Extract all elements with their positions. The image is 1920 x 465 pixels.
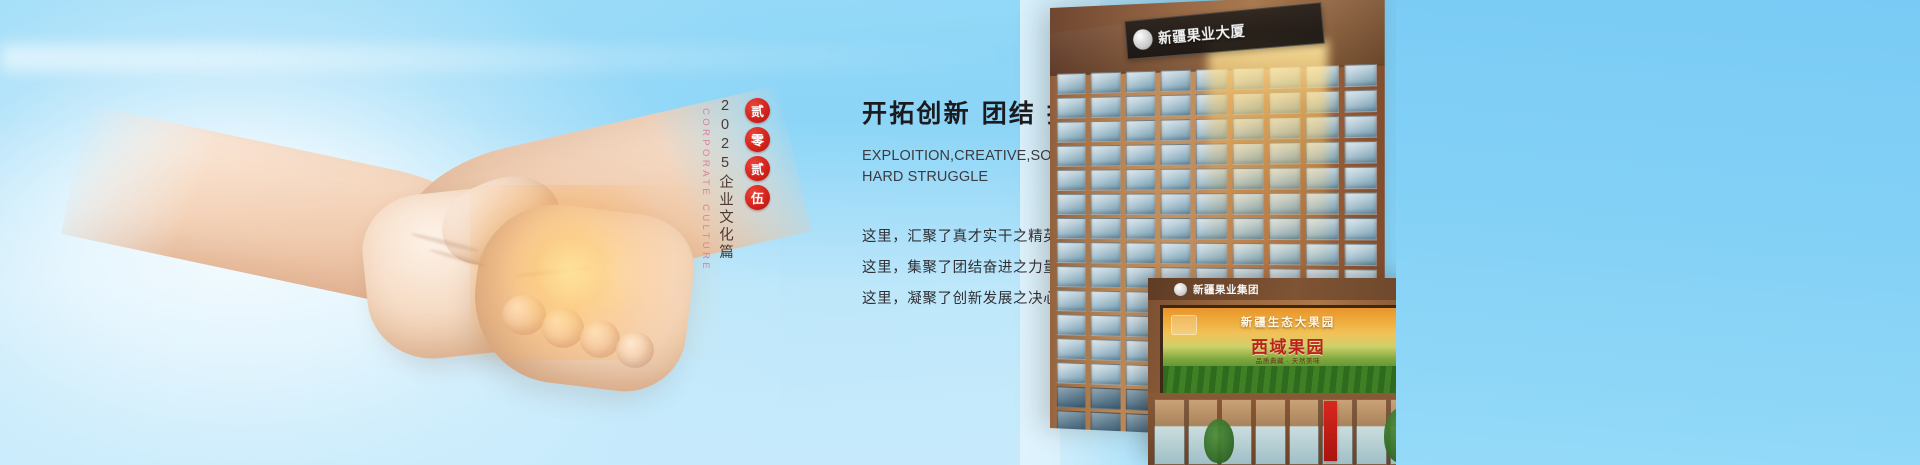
tower-window (1057, 145, 1086, 166)
tower-window (1091, 412, 1120, 435)
tower-window (1196, 143, 1227, 165)
tower-window (1057, 410, 1086, 432)
tower-window (1344, 115, 1377, 138)
tower-window (1344, 141, 1377, 164)
billboard-field-imagery (1163, 366, 1413, 396)
tower-window (1057, 97, 1086, 119)
tower-window-row (1050, 141, 1385, 165)
tower-window (1091, 266, 1120, 288)
tower-window (1306, 243, 1338, 265)
tower-window (1306, 91, 1338, 114)
tower-window (1306, 218, 1338, 240)
calligraphy-char-3: 合 (547, 129, 698, 287)
tower-window (1161, 94, 1191, 116)
tower-window (1232, 168, 1263, 190)
tower-window (1344, 64, 1377, 87)
tower-window (1125, 242, 1155, 264)
seal-icon: 贰 (745, 98, 770, 123)
tower-window (1091, 387, 1120, 409)
tower-window (1161, 144, 1191, 166)
tower-window (1057, 266, 1086, 287)
tower-window (1269, 66, 1301, 89)
tower-window (1344, 218, 1377, 240)
billboard: 新疆生态大果园 西域果园 品质典藏 · 天然美味 优质红枣系列产品 · 优质核桃… (1160, 305, 1416, 399)
company-logo-icon (1132, 28, 1153, 50)
tower-window (1057, 386, 1086, 408)
vertical-meta-column: CORPORATE CULTURE 2025企业文化篇 贰 零 贰 伍 (700, 96, 770, 286)
company-logo-icon (1174, 283, 1187, 296)
tower-window-row (1050, 167, 1385, 189)
office-building-photo: 新疆果业大厦 新疆果业集团 新疆生态大果园 西域果园 品质典藏 · 天然美味 优… (1020, 0, 1440, 465)
tower-window (1232, 118, 1263, 140)
tower-window (1161, 70, 1191, 92)
tower-window (1125, 71, 1155, 93)
tower-window (1091, 72, 1120, 94)
tower-window (1344, 90, 1377, 113)
street-tree (1204, 419, 1234, 463)
tower-window (1161, 169, 1191, 191)
tower-window (1125, 95, 1155, 117)
tower-window (1232, 92, 1263, 115)
tower-window (1344, 244, 1377, 267)
tower-window (1125, 193, 1155, 214)
tower-window (1091, 242, 1120, 263)
tower-window (1091, 291, 1120, 313)
tower-window (1306, 116, 1338, 139)
knuckle (580, 320, 620, 358)
tower-window (1161, 193, 1191, 215)
tower-window (1057, 242, 1086, 263)
tower-window-row (1050, 192, 1385, 213)
tower-window (1091, 218, 1120, 239)
tower-window-row (1050, 242, 1385, 264)
tower-window (1057, 290, 1086, 312)
calligraphy-headline: 诚信合作 (242, 86, 731, 320)
shopfront (1289, 399, 1320, 465)
rooftop-sign-text: 新疆果业大厦 (1157, 19, 1246, 48)
tower-window (1091, 145, 1120, 167)
tower-window (1057, 73, 1086, 95)
podium-sign-text: 新疆果业集团 (1193, 282, 1259, 297)
seal-icon: 贰 (745, 156, 770, 181)
tower-window (1232, 143, 1263, 165)
tower-window (1196, 218, 1227, 240)
tower-window (1057, 121, 1086, 143)
tower-window (1161, 119, 1191, 141)
tower-window (1344, 192, 1377, 215)
year-seal-stack: 贰 零 贰 伍 (745, 98, 770, 210)
corporate-culture-vertical-label: CORPORATE CULTURE (700, 108, 711, 272)
right-sky-fill (1396, 0, 1920, 465)
tower-window (1269, 117, 1301, 140)
tower-window (1232, 243, 1263, 265)
calligraphy-char-2: 信 (392, 124, 558, 277)
tower-window (1091, 96, 1120, 118)
tower-window-row (1050, 218, 1385, 238)
seal-icon: 伍 (745, 185, 770, 210)
billboard-subtitle: 品质典藏 · 天然美味 (1163, 355, 1413, 365)
tower-window (1161, 243, 1191, 265)
knuckle (616, 332, 654, 368)
tower-window (1232, 193, 1263, 215)
billboard-headline: 新疆生态大果园 (1163, 314, 1413, 330)
tower-window (1057, 338, 1086, 360)
tower-window (1269, 243, 1301, 265)
tower-window (1269, 92, 1301, 115)
tower-window (1057, 170, 1086, 191)
tower-window (1344, 167, 1377, 190)
calligraphy-char-1: 诚 (246, 131, 404, 301)
tower-window (1091, 363, 1120, 385)
tower-window (1196, 168, 1227, 190)
shopfront (1154, 399, 1185, 465)
tower-window (1125, 218, 1155, 239)
tower-window (1091, 315, 1120, 337)
shopfront (1255, 399, 1286, 465)
tower-window (1306, 167, 1338, 189)
tower-window (1269, 218, 1301, 240)
tower-window (1057, 362, 1086, 384)
tower-window (1269, 167, 1301, 189)
tower-window (1269, 193, 1301, 215)
tower-window (1306, 65, 1338, 88)
tower-window (1125, 120, 1155, 142)
year-culture-vertical-label: 2025企业文化篇 (715, 98, 736, 262)
tower-window (1057, 194, 1086, 215)
tower-window-row (1050, 115, 1385, 141)
tower-window (1091, 194, 1120, 215)
tower-window (1306, 193, 1338, 215)
red-vertical-banner (1324, 401, 1337, 461)
seal-icon: 零 (745, 127, 770, 152)
background-light-band (0, 44, 1020, 72)
tower-window (1196, 243, 1227, 265)
tower-window (1232, 218, 1263, 240)
tower-window (1091, 169, 1120, 190)
tower-window (1057, 218, 1086, 239)
shopfront (1356, 399, 1387, 465)
tower-window (1306, 142, 1338, 165)
tower-window (1125, 144, 1155, 166)
tower-window (1091, 121, 1120, 143)
tower-window (1091, 339, 1120, 361)
tower-window (1196, 93, 1227, 115)
corporate-culture-banner: 诚信合作 CORPORATE CULTURE 2025企业文化篇 贰 零 贰 伍… (0, 0, 1920, 465)
knuckle (542, 308, 584, 348)
tower-window (1161, 218, 1191, 240)
tower-window (1232, 67, 1263, 90)
tower-window (1269, 142, 1301, 164)
tower-window (1125, 169, 1155, 191)
tower-window (1196, 118, 1227, 140)
tower-window (1196, 68, 1227, 91)
tower-window (1057, 314, 1086, 336)
tower-window (1196, 193, 1227, 215)
